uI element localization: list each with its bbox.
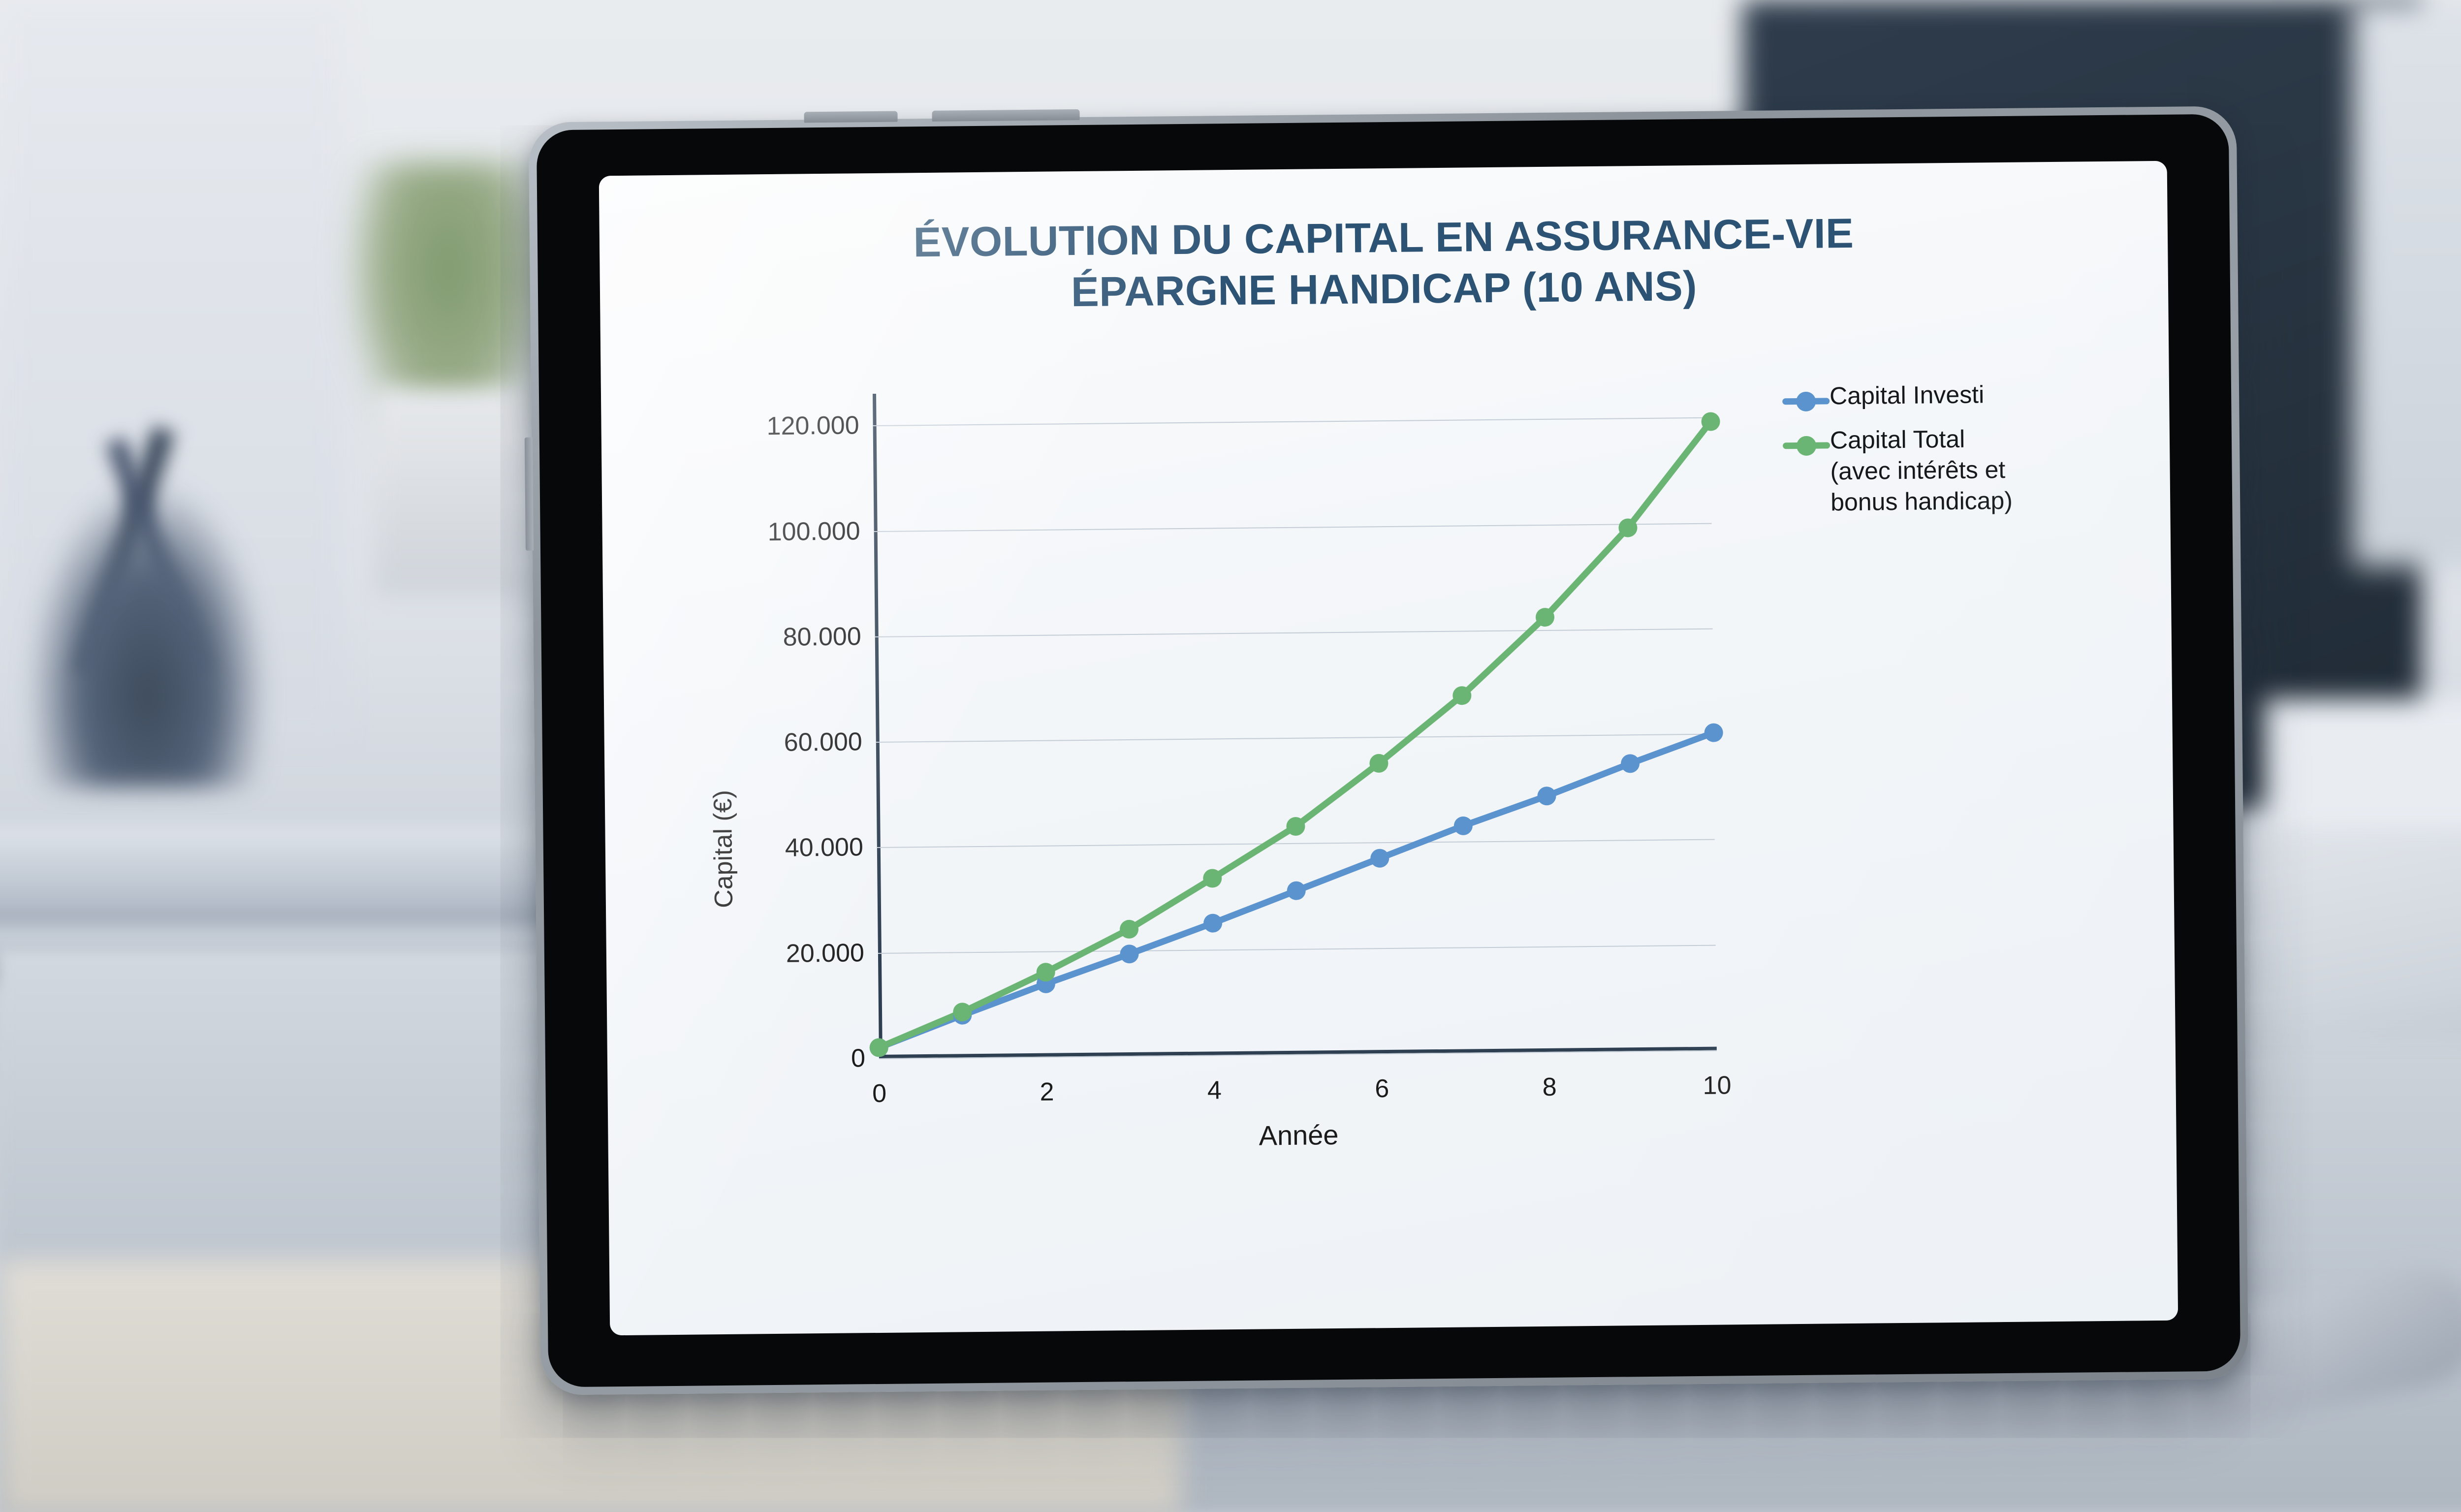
data-point-marker[interactable]: [1618, 518, 1637, 537]
tablet-screen[interactable]: ÉVOLUTION DU CAPITAL EN ASSURANCE-VIE ÉP…: [599, 161, 2178, 1335]
data-point-marker[interactable]: [1203, 913, 1222, 932]
y-tick-label: 20.000: [786, 938, 865, 969]
y-tick-label: 120.000: [766, 411, 859, 441]
scene-background: ÉVOLUTION DU CAPITAL EN ASSURANCE-VIE ÉP…: [0, 0, 2461, 1512]
legend-label: Capital Investi: [1830, 379, 1985, 411]
data-point-marker[interactable]: [1120, 945, 1138, 963]
data-point-marker[interactable]: [1369, 754, 1388, 773]
x-tick-label: 10: [1703, 1071, 1731, 1101]
y-tick-label: 0: [851, 1043, 865, 1073]
series-lines: [873, 386, 1717, 1058]
legend-label: Capital Total (avec intérêts et bonus ha…: [1830, 423, 2013, 518]
y-tick-label: 60.000: [784, 727, 862, 757]
data-point-marker[interactable]: [1287, 881, 1306, 900]
x-tick-label: 0: [872, 1079, 886, 1108]
background-plant-pot: [374, 389, 532, 596]
data-point-marker[interactable]: [1536, 608, 1554, 627]
data-point-marker[interactable]: [1286, 817, 1305, 836]
x-tick-label: 2: [1040, 1077, 1054, 1107]
plot-area[interactable]: 020.00040.00060.00080.000100.000120.000 …: [873, 386, 1717, 1058]
data-point-marker[interactable]: [1370, 849, 1389, 868]
legend-item[interactable]: Capital Investi: [1782, 378, 2147, 414]
chart-legend[interactable]: Capital InvestiCapital Total (avec intér…: [1782, 378, 2148, 529]
data-point-marker[interactable]: [1037, 963, 1055, 981]
x-tick-label: 4: [1207, 1075, 1222, 1105]
volume-up-button[interactable]: [804, 111, 897, 123]
series-line: [873, 422, 1717, 1048]
data-point-marker[interactable]: [870, 1038, 888, 1057]
data-point-marker[interactable]: [1454, 817, 1473, 835]
data-point-marker[interactable]: [1452, 686, 1471, 705]
data-point-marker[interactable]: [1120, 920, 1138, 939]
y-tick-label: 100.000: [767, 516, 860, 547]
y-axis-label: Capital (€): [708, 790, 739, 908]
legend-marker-icon: [1783, 432, 1830, 459]
data-point-marker[interactable]: [1537, 787, 1556, 805]
data-point-marker[interactable]: [1203, 869, 1222, 887]
y-tick-label: 40.000: [785, 833, 864, 863]
y-tick-label: 80.000: [783, 622, 861, 652]
chart-figure: Capital (€) 020.00040.00060.00080.000100…: [601, 373, 2178, 1313]
data-point-marker[interactable]: [1621, 754, 1640, 773]
data-point-marker[interactable]: [1701, 412, 1720, 431]
x-axis-label: Année: [880, 1115, 1718, 1155]
data-point-marker[interactable]: [953, 1003, 972, 1021]
background-wall-right: [2353, 0, 2461, 566]
legend-marker-icon: [1782, 387, 1830, 414]
x-tick-label: 8: [1542, 1072, 1556, 1102]
data-point-marker[interactable]: [1704, 723, 1723, 742]
power-button[interactable]: [525, 438, 534, 551]
x-tick-label: 6: [1375, 1074, 1389, 1103]
volume-down-button[interactable]: [932, 109, 1079, 122]
chart-title: ÉVOLUTION DU CAPITAL EN ASSURANCE-VIE ÉP…: [599, 205, 2169, 322]
tablet-device: ÉVOLUTION DU CAPITAL EN ASSURANCE-VIE ÉP…: [529, 106, 2249, 1395]
background-pen-holder: [30, 482, 266, 787]
legend-item[interactable]: Capital Total (avec intérêts et bonus ha…: [1783, 422, 2148, 518]
